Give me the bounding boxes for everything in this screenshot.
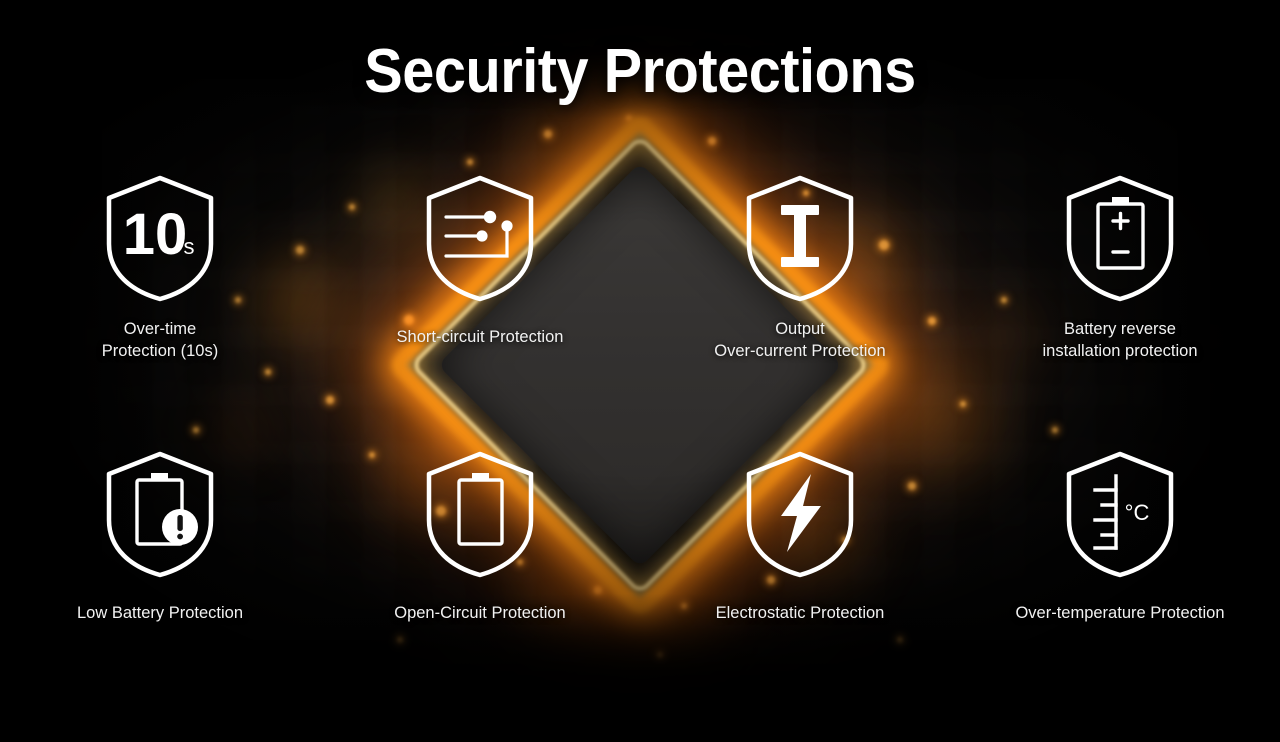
protection-item-output-over-current[interactable]: Output Over-current Protection — [640, 172, 960, 362]
protection-label-battery-reverse: Battery reverse installation protection — [1042, 318, 1197, 362]
protection-label-low-battery: Low Battery Protection — [77, 602, 243, 624]
shield-thermometer-icon: °C — [1061, 448, 1179, 580]
page-title: Security Protections — [45, 36, 1235, 107]
shield-empty-battery-icon — [421, 448, 539, 580]
protection-row-top: 10 s Over-time Protection (10s) — [0, 172, 1280, 362]
protection-label-over-temperature: Over-temperature Protection — [1015, 602, 1224, 624]
protection-item-short-circuit[interactable]: Short-circuit Protection — [320, 172, 640, 362]
content-layer: Security Protections 10 s Over-time Prot… — [0, 0, 1280, 742]
protection-item-electrostatic[interactable]: Electrostatic Protection — [640, 448, 960, 624]
protection-label-output-over-current: Output Over-current Protection — [714, 318, 885, 362]
protection-row-bottom: Low Battery Protection Open-Circuit Prot… — [0, 448, 1280, 624]
shield-low-battery-alert-icon — [101, 448, 219, 580]
shield-short-circuit-icon — [421, 172, 539, 304]
protection-item-open-circuit[interactable]: Open-Circuit Protection — [320, 448, 640, 624]
protection-label-electrostatic: Electrostatic Protection — [716, 602, 885, 624]
infographic-root: Security Protections 10 s Over-time Prot… — [0, 0, 1280, 742]
shield-10s-icon: 10 s — [101, 172, 219, 304]
protection-label-short-circuit: Short-circuit Protection — [397, 326, 564, 348]
protection-label-over-time: Over-time Protection (10s) — [102, 318, 218, 362]
shield-battery-polarity-icon — [1061, 172, 1179, 304]
protection-item-over-temperature[interactable]: °C Over-temperature Protection — [960, 448, 1280, 624]
svg-text:s: s — [184, 234, 195, 259]
protection-item-low-battery[interactable]: Low Battery Protection — [0, 448, 320, 624]
shield-10s-value: 10 — [123, 202, 188, 267]
shield-current-i-icon — [741, 172, 859, 304]
protection-label-open-circuit: Open-Circuit Protection — [394, 602, 566, 624]
protection-item-battery-reverse[interactable]: Battery reverse installation protection — [960, 172, 1280, 362]
svg-text:°C: °C — [1125, 500, 1150, 525]
shield-lightning-bolt-icon — [741, 448, 859, 580]
protection-item-over-time[interactable]: 10 s Over-time Protection (10s) — [0, 172, 320, 362]
